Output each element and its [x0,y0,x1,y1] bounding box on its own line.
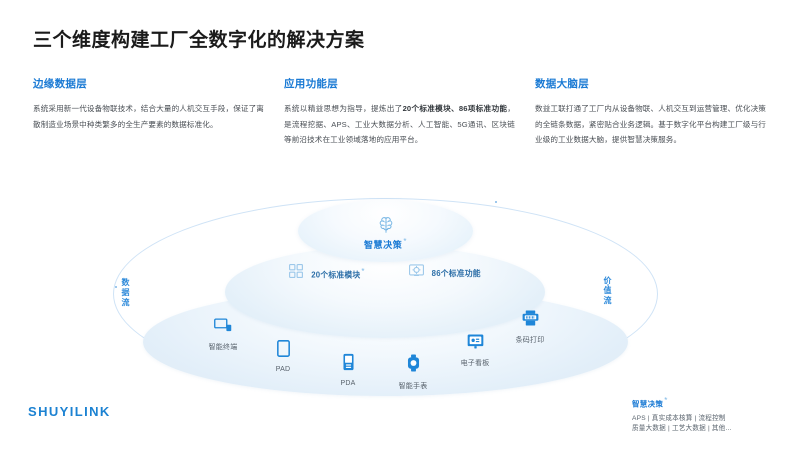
middle-item-label-text: 20个标准模块 [311,270,360,279]
device-electronic-kanban[interactable]: 电子看板 [445,334,505,368]
device-smart-terminal[interactable]: 智能终端 [193,318,253,352]
barcode-printer-icon [522,310,539,331]
device-label: 条码打印 [516,335,545,345]
column-data-brain-layer: 数据大脑层 数益工联打通了工厂内从设备物联、人机交互到运营管理、优化决策的全链条… [535,76,766,148]
top-tier-label-text: 智慧决策 [364,240,402,250]
middle-item-label: 20个标准模块* [311,267,364,281]
device-label: 智能手表 [399,381,428,391]
footnote-legend: 智慧决策* APS | 真实成本核算 | 流程控制 质量大数据 | 工艺大数据 … [632,396,792,435]
column-body-text-bold: 20个标准模块、86项标准功能 [403,104,508,113]
column-body: 系统采用新一代设备物联技术，结合大量的人机交互手段，保证了离散制造业场景中种类繁… [33,101,264,132]
device-label: PAD [276,366,290,373]
asterisk-marker: * [361,267,364,276]
functions-screen-icon [409,264,424,283]
smart-terminal-icon [214,318,232,338]
side-label-value-flow: 价值流 [603,276,611,306]
device-label: 智能终端 [209,342,238,352]
middle-item-standard-modules[interactable]: 20个标准模块* [289,264,364,283]
device-barcode-printer[interactable]: 条码打印 [500,310,560,345]
column-body-text: 系统采用新一代设备物联技术，结合大量的人机交互手段，保证了离散制造业场景中种类繁… [33,104,264,129]
column-body-text: 数益工联打通了工厂内从设备物联、人机交互到运营管理、优化决策的全链条数据，紧密贴… [535,104,766,144]
device-pad[interactable]: PAD [253,340,313,373]
top-tier-label: 智慧决策* [364,237,407,251]
column-application-function-layer: 应用功能层 系统以精益思想为指导，提炼出了20个标准模块、86项标准功能，是流程… [284,76,515,148]
smart-watch-icon [407,354,420,377]
three-column-text-block: 边缘数据层 系统采用新一代设备物联技术，结合大量的人机交互手段，保证了离散制造业… [33,76,768,148]
column-body-text-prefix: 系统以精益思想为指导，提炼出了 [284,104,403,113]
middle-item-standard-functions[interactable]: 86个标准功能 [409,264,481,283]
device-pda[interactable]: PDA [318,353,378,387]
asterisk-marker: * [403,237,407,246]
ring-dot-left [115,286,117,288]
middle-item-label: 86个标准功能 [432,268,481,279]
column-heading: 边缘数据层 [33,76,264,91]
legend-title-text: 智慧决策 [632,400,663,409]
company-logo: SHUYILINK [28,404,111,419]
legend-line-2: 质量大数据 | 工艺大数据 | 其他... [632,424,792,435]
device-label: 电子看板 [461,358,490,368]
electronic-kanban-icon [467,334,484,354]
middle-item-label-text: 86个标准功能 [432,269,481,278]
column-body: 数益工联打通了工厂内从设备物联、人机交互到运营管理、优化决策的全链条数据，紧密贴… [535,101,766,148]
column-heading: 数据大脑层 [535,76,766,91]
middle-tier-items: 20个标准模块* 86个标准功能 [225,264,545,283]
column-body: 系统以精益思想为指导，提炼出了20个标准模块、86项标准功能，是流程挖据、APS… [284,101,515,148]
column-edge-data-layer: 边缘数据层 系统采用新一代设备物联技术，结合大量的人机交互手段，保证了离散制造业… [33,76,264,148]
asterisk-marker: * [664,396,667,405]
ring-dot-top-right [495,201,497,203]
legend-title: 智慧决策* [632,396,792,410]
legend-line-1: APS | 真实成本核算 | 流程控制 [632,414,792,425]
device-label: PDA [341,380,356,387]
pad-icon [277,340,290,362]
top-tier-content[interactable]: 智慧决策* [298,204,473,262]
modules-grid-icon [289,264,303,283]
device-smart-watch[interactable]: 智能手表 [383,354,443,391]
slide-root: 三个维度构建工厂全数字化的解决方案 边缘数据层 系统采用新一代设备物联技术，结合… [0,0,800,450]
brain-icon [376,215,396,235]
pyramid-diagram: 数据流 价值流 智能终端 PAD [95,188,675,403]
pda-icon [343,353,354,376]
page-title: 三个维度构建工厂全数字化的解决方案 [33,25,365,52]
side-label-data-flow: 数据流 [121,278,129,308]
column-heading: 应用功能层 [284,76,515,91]
